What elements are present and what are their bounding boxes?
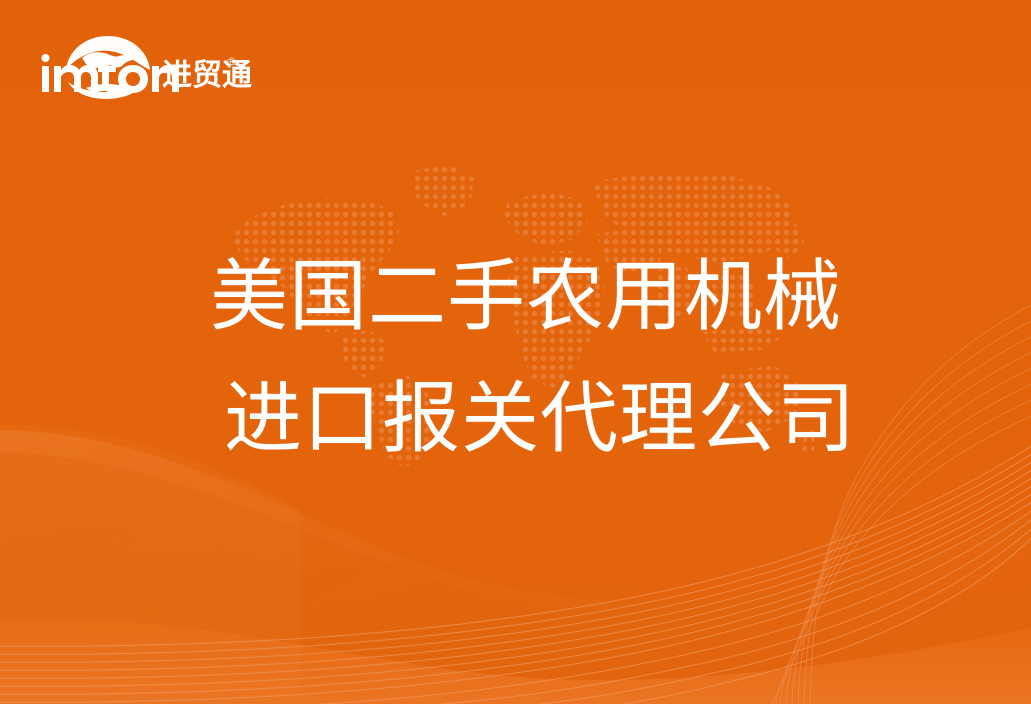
brand-chinese-name: 进贸通 <box>162 60 252 92</box>
page-title: 美国二手农用机械 进口报关代理公司 <box>210 236 870 480</box>
brand-logo[interactable]: 进贸通 ® <box>38 26 218 104</box>
registered-trademark-mark: ® <box>226 56 237 67</box>
promo-banner: 进贸通 ® 美国二手农用机械 进口报关代理公司 <box>0 0 1031 704</box>
headline-line-1: 美国二手农用机械 <box>210 236 870 358</box>
headline-line-2: 进口报关代理公司 <box>210 358 870 480</box>
